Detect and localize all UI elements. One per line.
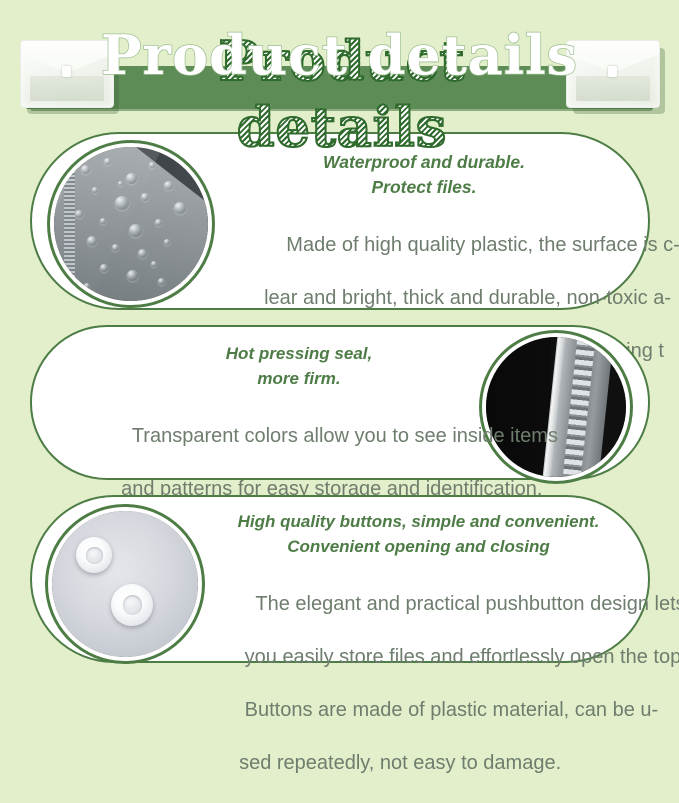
page-title: Product details Product details [0,22,679,88]
card-headline-line2: more firm. [72,366,527,391]
card-body-line4: sed repeatedly, not easy to damage. [239,752,561,774]
card-body-line3: Buttons are made of plastic material, ca… [239,699,658,721]
card-headline-line1: High quality buttons, simple and conveni… [194,509,644,534]
page-header: Product details Product details [0,0,679,128]
page-title-text: Product details [101,23,578,87]
card-body-line2: lear and bright, thick and durable, non-… [264,287,671,309]
feature-card-hot-pressing-seal: Hot pressing seal, more firm. Transparen… [30,325,650,480]
card-headline-line2: Convenient opening and closing [194,534,644,559]
plastic-ridge-texture [64,147,75,301]
card-body-line1: Transparent colors allow you to see insi… [121,425,558,447]
card-body-line1: Made of high quality plastic, the surfac… [264,234,679,256]
card-body-line1: The elegant and practical pushbutton des… [239,593,679,615]
plastic-surface [52,511,198,657]
card-headline-line2: Protect files. [217,175,632,200]
waterproof-plastic-droplets-photo [50,143,212,305]
card-headline-line1: Hot pressing seal, [72,341,527,366]
feature-card-list: Waterproof and durable. Protect files. M… [0,132,679,678]
card-body-line2: you easily store files and effortlessly … [239,646,679,668]
feature-card-high-quality-buttons: High quality buttons, simple and conveni… [30,495,650,663]
card-copy-high-quality-buttons: High quality buttons, simple and conveni… [194,509,644,803]
snap-buttons-photo [48,507,202,661]
